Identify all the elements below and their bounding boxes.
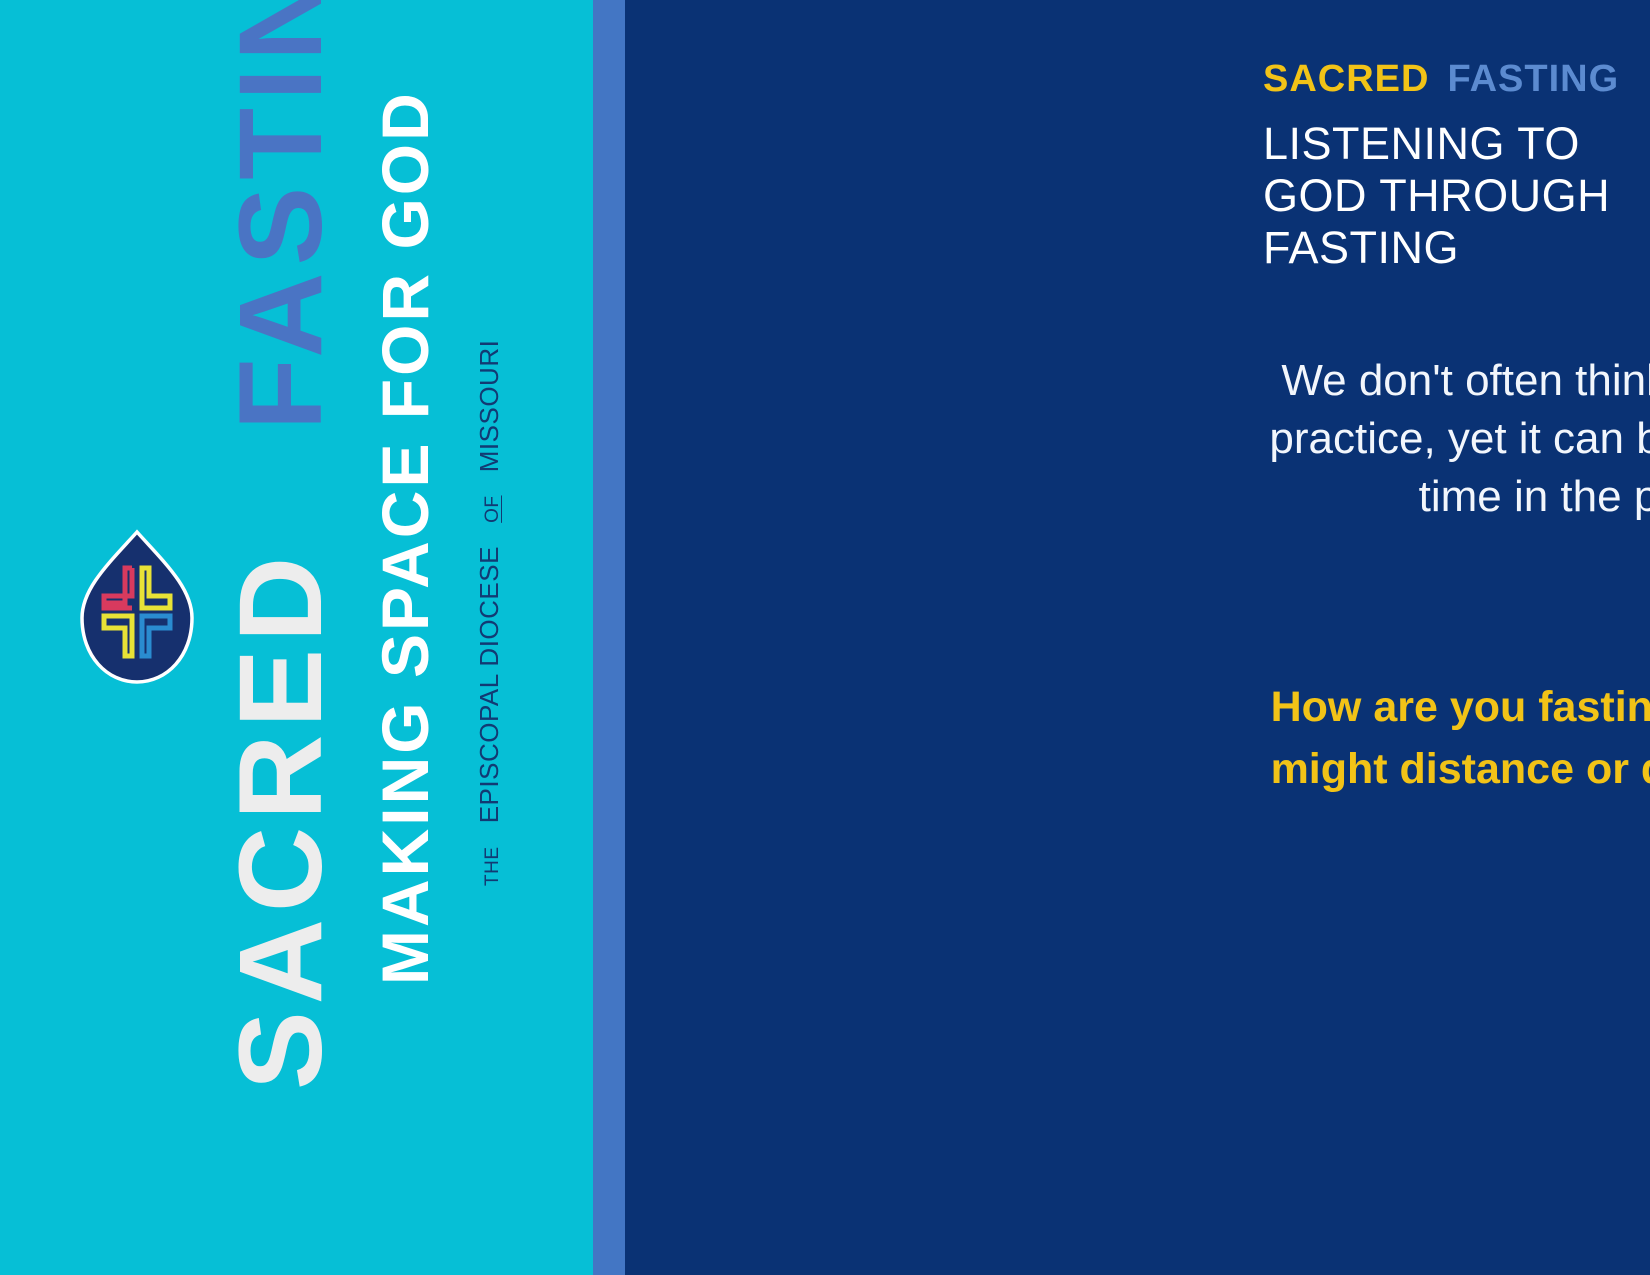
- diocese-of-word: OF: [482, 495, 503, 522]
- reflection-question: How are you fasting from those things th…: [1265, 676, 1650, 863]
- diocese-body-text: EPISCOPAL DIOCESE: [474, 546, 504, 823]
- poster-canvas: SACRED FASTING MAKING SPACE FOR GOD THE …: [0, 0, 1650, 1275]
- quote-paragraph: We don't often think of fasting as a “mo…: [1265, 352, 1650, 526]
- header-kicker-sacred: SACRED: [1263, 58, 1429, 100]
- diocese-lead-word: THE: [482, 847, 503, 887]
- episcopal-diocese-shield-logo: [78, 528, 196, 686]
- header-subtitle: LISTENING TO GOD THROUGH FASTING: [1263, 118, 1650, 274]
- left-cyan-panel: SACRED FASTING MAKING SPACE FOR GOD THE …: [0, 0, 593, 1275]
- vertical-title-word-sacred: SACRED: [215, 550, 347, 1090]
- vertical-title-word-fasting: FASTING: [215, 0, 347, 430]
- right-navy-panel: SACREDFASTING LISTENING TO GOD THROUGH F…: [625, 0, 1650, 1275]
- header-kicker-fasting: FASTING: [1447, 58, 1619, 100]
- vertical-subtitle: MAKING SPACE FOR GOD: [372, 90, 438, 985]
- vertical-diocese-line: THE EPISCOPAL DIOCESE OF MISSOURI: [476, 340, 502, 886]
- header-kicker: SACREDFASTING: [1263, 58, 1619, 101]
- diocese-place-name: MISSOURI: [474, 340, 504, 473]
- panel-divider-strip: [593, 0, 625, 1275]
- vertical-brand-title: SACRED FASTING: [222, 0, 340, 1090]
